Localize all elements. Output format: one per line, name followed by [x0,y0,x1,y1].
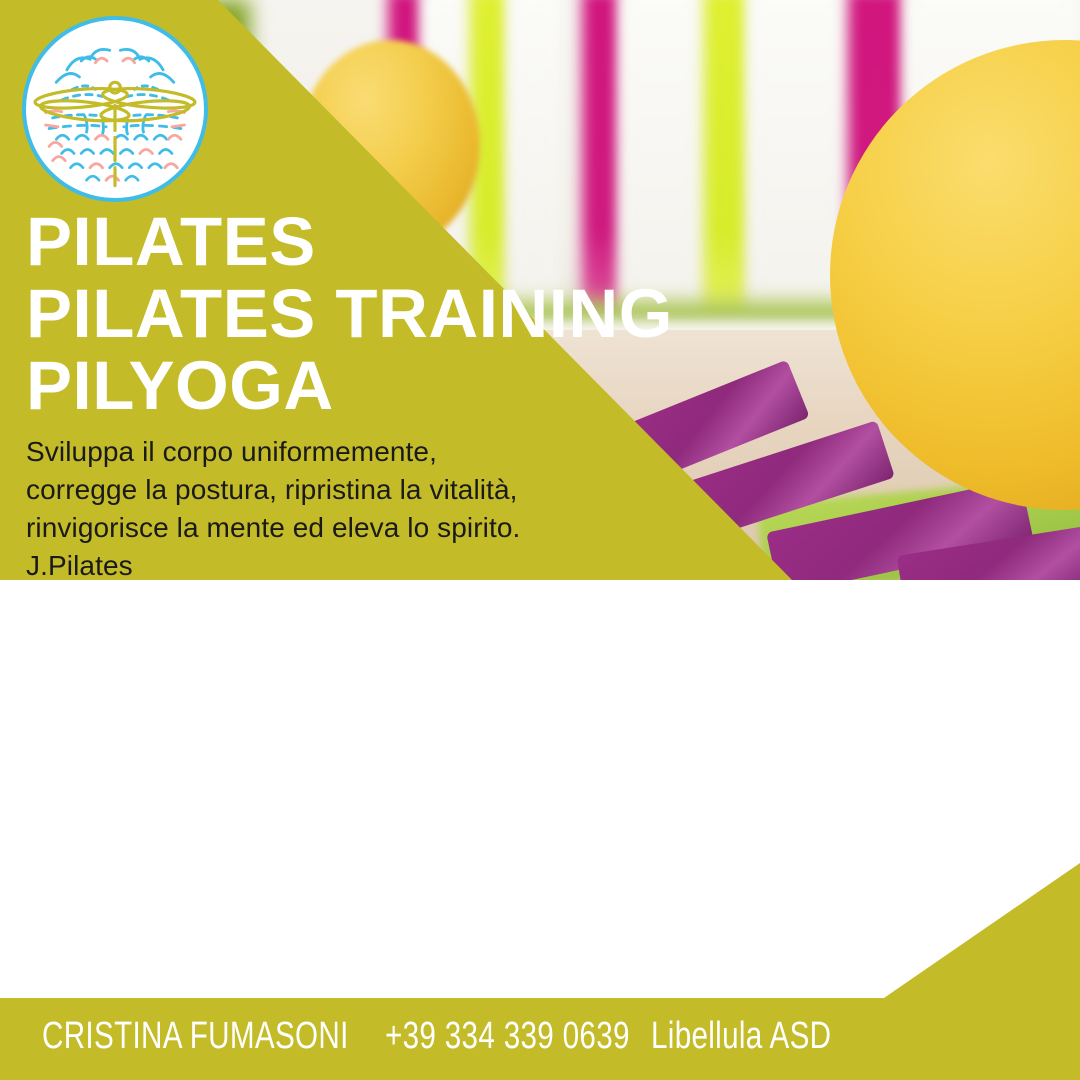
schedule-section: LUNEDÌ MERCOLEDÌ ORE 17.00 PILATES Sala … [0,580,1080,998]
dragonfly-logo [22,16,208,202]
pilates-schedule-poster: PILATES PILATES TRAINING PILYOGA Svilupp… [0,0,1080,1080]
headline-line-2: PILATES TRAINING [26,278,673,350]
footer-phone[interactable]: +39 334 339 0639 [385,1015,630,1058]
page-title: PILATES PILATES TRAINING PILYOGA [26,206,673,422]
tagline-line-1: Sviluppa il corpo uniformemente, [26,433,520,471]
photo-stripe-lime-2 [704,0,748,335]
tagline-line-2: corregge la postura, ripristina la vital… [26,471,520,509]
footer-contact-row: CRISTINA FUMASONI +39 334 339 0639 Libel… [0,1008,1080,1064]
tagline-line-3: rinvigorisce la mente ed eleva lo spirit… [26,509,520,547]
footer-instructor-name: CRISTINA FUMASONI [42,1015,349,1058]
headline-line-3: PILYOGA [26,350,673,422]
footer-organization: Libellula ASD [651,1015,831,1058]
headline-line-1: PILATES [26,206,673,278]
tagline: Sviluppa il corpo uniformemente, corregg… [26,433,520,585]
